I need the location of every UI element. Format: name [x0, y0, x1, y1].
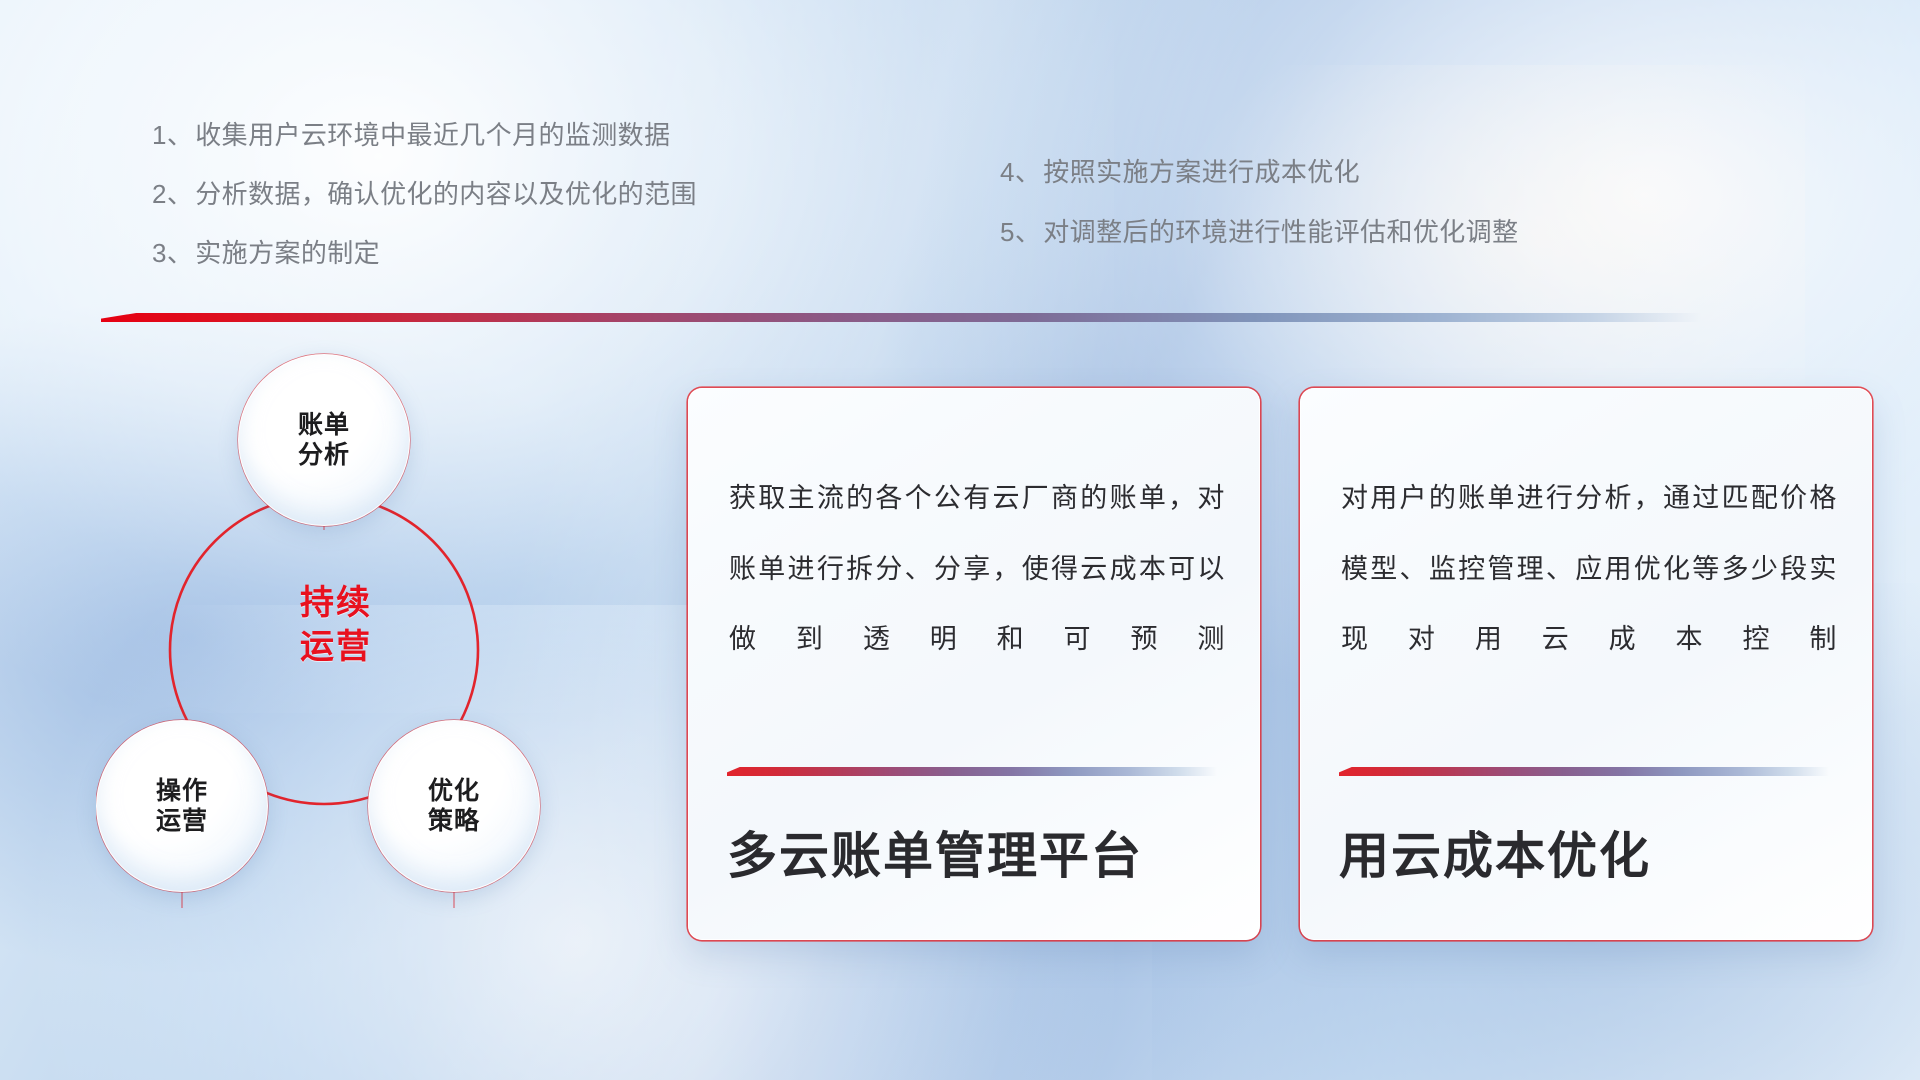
step-number-2: 2、 [152, 179, 193, 209]
diagram-node-billing-analysis-line2: 分析 [298, 440, 350, 471]
diagram-node-billing-analysis[interactable]: 账单 分析 [238, 354, 410, 526]
feature-card-multi-cloud-billing[interactable]: 获取主流的各个公有云厂商的账单，对账单进行拆分、分享，使得云成本可以做到透明和可… [688, 388, 1260, 940]
feature-card-2-body: 对用户的账单进行分析，通过匹配价格模型、监控管理、应用优化等多少段实现对用云成本… [1341, 463, 1837, 675]
diagram-node-operations-line1: 操作 [156, 776, 208, 807]
step-item-1: 1、收集用户云环境中最近几个月的监测数据 [152, 122, 697, 148]
feature-card-1-rule [727, 767, 1217, 776]
step-text-3: 实施方案的制定 [195, 238, 380, 268]
diagram-node-optimization-strategy-line2: 策略 [428, 806, 480, 837]
step-text-1: 收集用户云环境中最近几个月的监测数据 [195, 120, 670, 150]
feature-card-cloud-cost-optimization[interactable]: 对用户的账单进行分析，通过匹配价格模型、监控管理、应用优化等多少段实现对用云成本… [1300, 388, 1872, 940]
step-text-5: 对调整后的环境进行性能评估和优化调整 [1043, 217, 1518, 247]
divider-gradient-bar [101, 313, 1701, 322]
continuous-operation-diagram: 账单 分析 操作 运营 优化 策略 持续 运营 [96, 352, 656, 972]
step-number-3: 3、 [152, 238, 193, 268]
step-item-5: 5、对调整后的环境进行性能评估和优化调整 [1000, 219, 1518, 245]
step-number-4: 4、 [1000, 157, 1041, 187]
feature-card-1-body: 获取主流的各个公有云厂商的账单，对账单进行拆分、分享，使得云成本可以做到透明和可… [729, 463, 1225, 675]
feature-card-2-rule [1339, 767, 1829, 776]
step-text-4: 按照实施方案进行成本优化 [1043, 157, 1360, 187]
diagram-node-operations-line2: 运营 [156, 806, 208, 837]
step-number-5: 5、 [1000, 217, 1041, 247]
step-number-1: 1、 [152, 120, 193, 150]
steps-column-left: 1、收集用户云环境中最近几个月的监测数据 2、分析数据，确认优化的内容以及优化的… [152, 122, 697, 299]
diagram-center-label-line2: 运营 [256, 626, 416, 670]
diagram-center-label-line1: 持续 [256, 582, 416, 626]
step-text-2: 分析数据，确认优化的内容以及优化的范围 [195, 179, 697, 209]
step-item-3: 3、实施方案的制定 [152, 240, 697, 266]
diagram-center-label: 持续 运营 [256, 582, 416, 669]
step-item-4: 4、按照实施方案进行成本优化 [1000, 159, 1518, 185]
feature-card-1-title: 多云账单管理平台 [727, 829, 1143, 884]
diagram-node-optimization-strategy[interactable]: 优化 策略 [368, 720, 540, 892]
diagram-node-billing-analysis-line1: 账单 [298, 410, 350, 441]
steps-column-right: 4、按照实施方案进行成本优化 5、对调整后的环境进行性能评估和优化调整 [1000, 159, 1518, 279]
feature-card-2-title: 用云成本优化 [1339, 829, 1651, 884]
section-divider [101, 313, 1701, 322]
diagram-node-operations[interactable]: 操作 运营 [96, 720, 268, 892]
step-item-2: 2、分析数据，确认优化的内容以及优化的范围 [152, 181, 697, 207]
diagram-node-optimization-strategy-line1: 优化 [428, 776, 480, 807]
